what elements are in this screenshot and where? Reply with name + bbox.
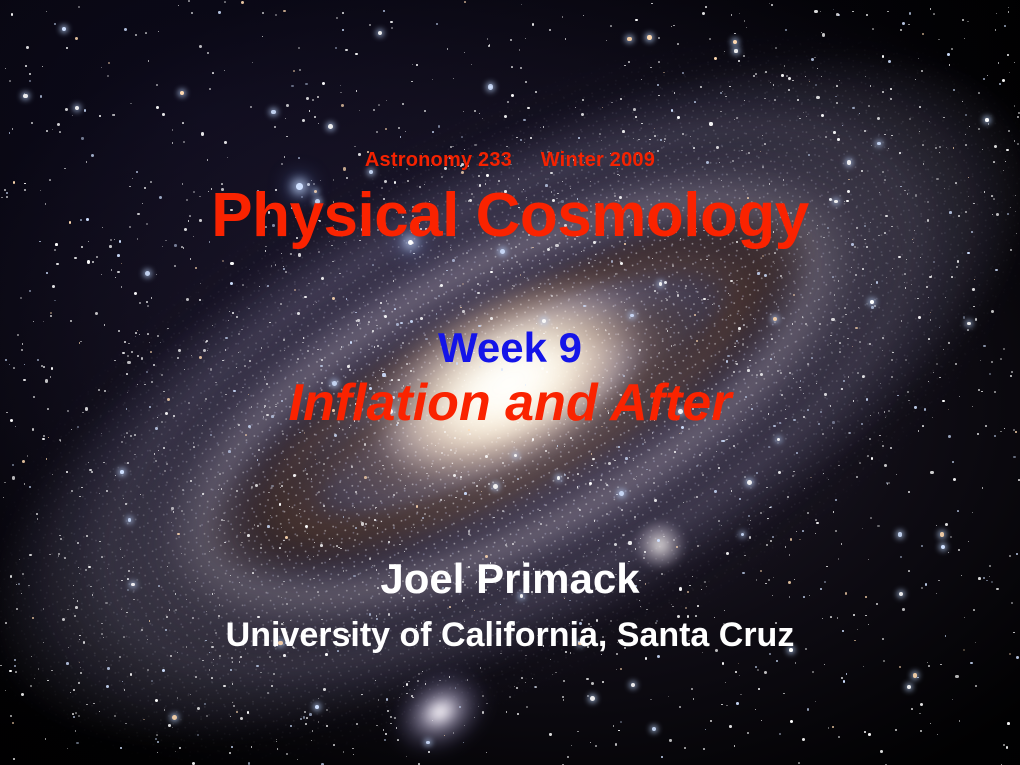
slide-title: Physical Cosmology (0, 185, 1020, 247)
presenter-name: Joel Primack (0, 558, 1020, 600)
presentation-slide: Astronomy 233 Winter 2009 Physical Cosmo… (0, 0, 1020, 765)
presenter-affiliation: University of California, Santa Cruz (0, 618, 1020, 652)
week-label: Week 9 (0, 327, 1020, 369)
lecture-topic: Inflation and After (0, 377, 1020, 429)
slide-text-layer: Astronomy 233 Winter 2009 Physical Cosmo… (0, 0, 1020, 765)
course-and-term-line: Astronomy 233 Winter 2009 (0, 150, 1020, 170)
